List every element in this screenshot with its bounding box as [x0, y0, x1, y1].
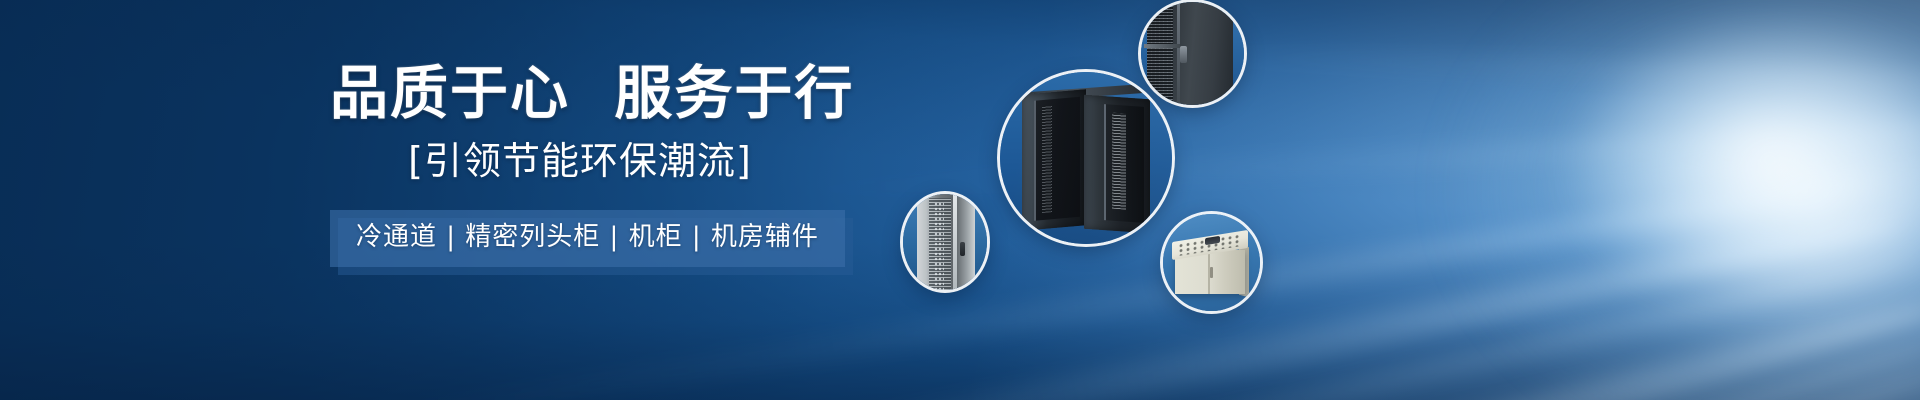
rack-door-frame [953, 194, 957, 290]
rack-perforation [934, 202, 944, 290]
product-photo-grey-perforated-rack [903, 194, 987, 290]
product-photo-twin-black-server-racks [1000, 72, 1172, 244]
banner-subheadline: [引领节能环保潮流] [330, 142, 830, 180]
server-rack-left [1022, 89, 1086, 231]
glow-hotspot [1560, 10, 1920, 310]
banner-text-block: 品质于心 服务于行 [引领节能环保潮流] 冷通道 | 精密列头柜 | 机柜 | … [330, 64, 830, 267]
enclosure-handle [1210, 267, 1213, 278]
product-photo-beige-floor-enclosure [1163, 214, 1260, 311]
banner-headline: 品质于心 服务于行 [330, 64, 830, 122]
banner-tagline-bar: 冷通道 | 精密列头柜 | 机柜 | 机房辅件 [330, 210, 845, 267]
tagline-text: 冷通道 | 精密列头柜 | 机柜 | 机房辅件 [330, 210, 845, 267]
rack-handle [960, 242, 965, 256]
cabinet-rail [1144, 44, 1180, 48]
cabinet-handle [1180, 46, 1187, 63]
product-circle-grey-perforated-rack[interactable] [903, 194, 987, 290]
promotional-banner: 品质于心 服务于行 [引领节能环保潮流] 冷通道 | 精密列头柜 | 机柜 | … [0, 0, 1920, 400]
product-circle-beige-floor-enclosure[interactable] [1163, 214, 1260, 311]
server-rack-right [1084, 95, 1150, 234]
product-circle-twin-black-server-racks[interactable] [1000, 72, 1172, 244]
